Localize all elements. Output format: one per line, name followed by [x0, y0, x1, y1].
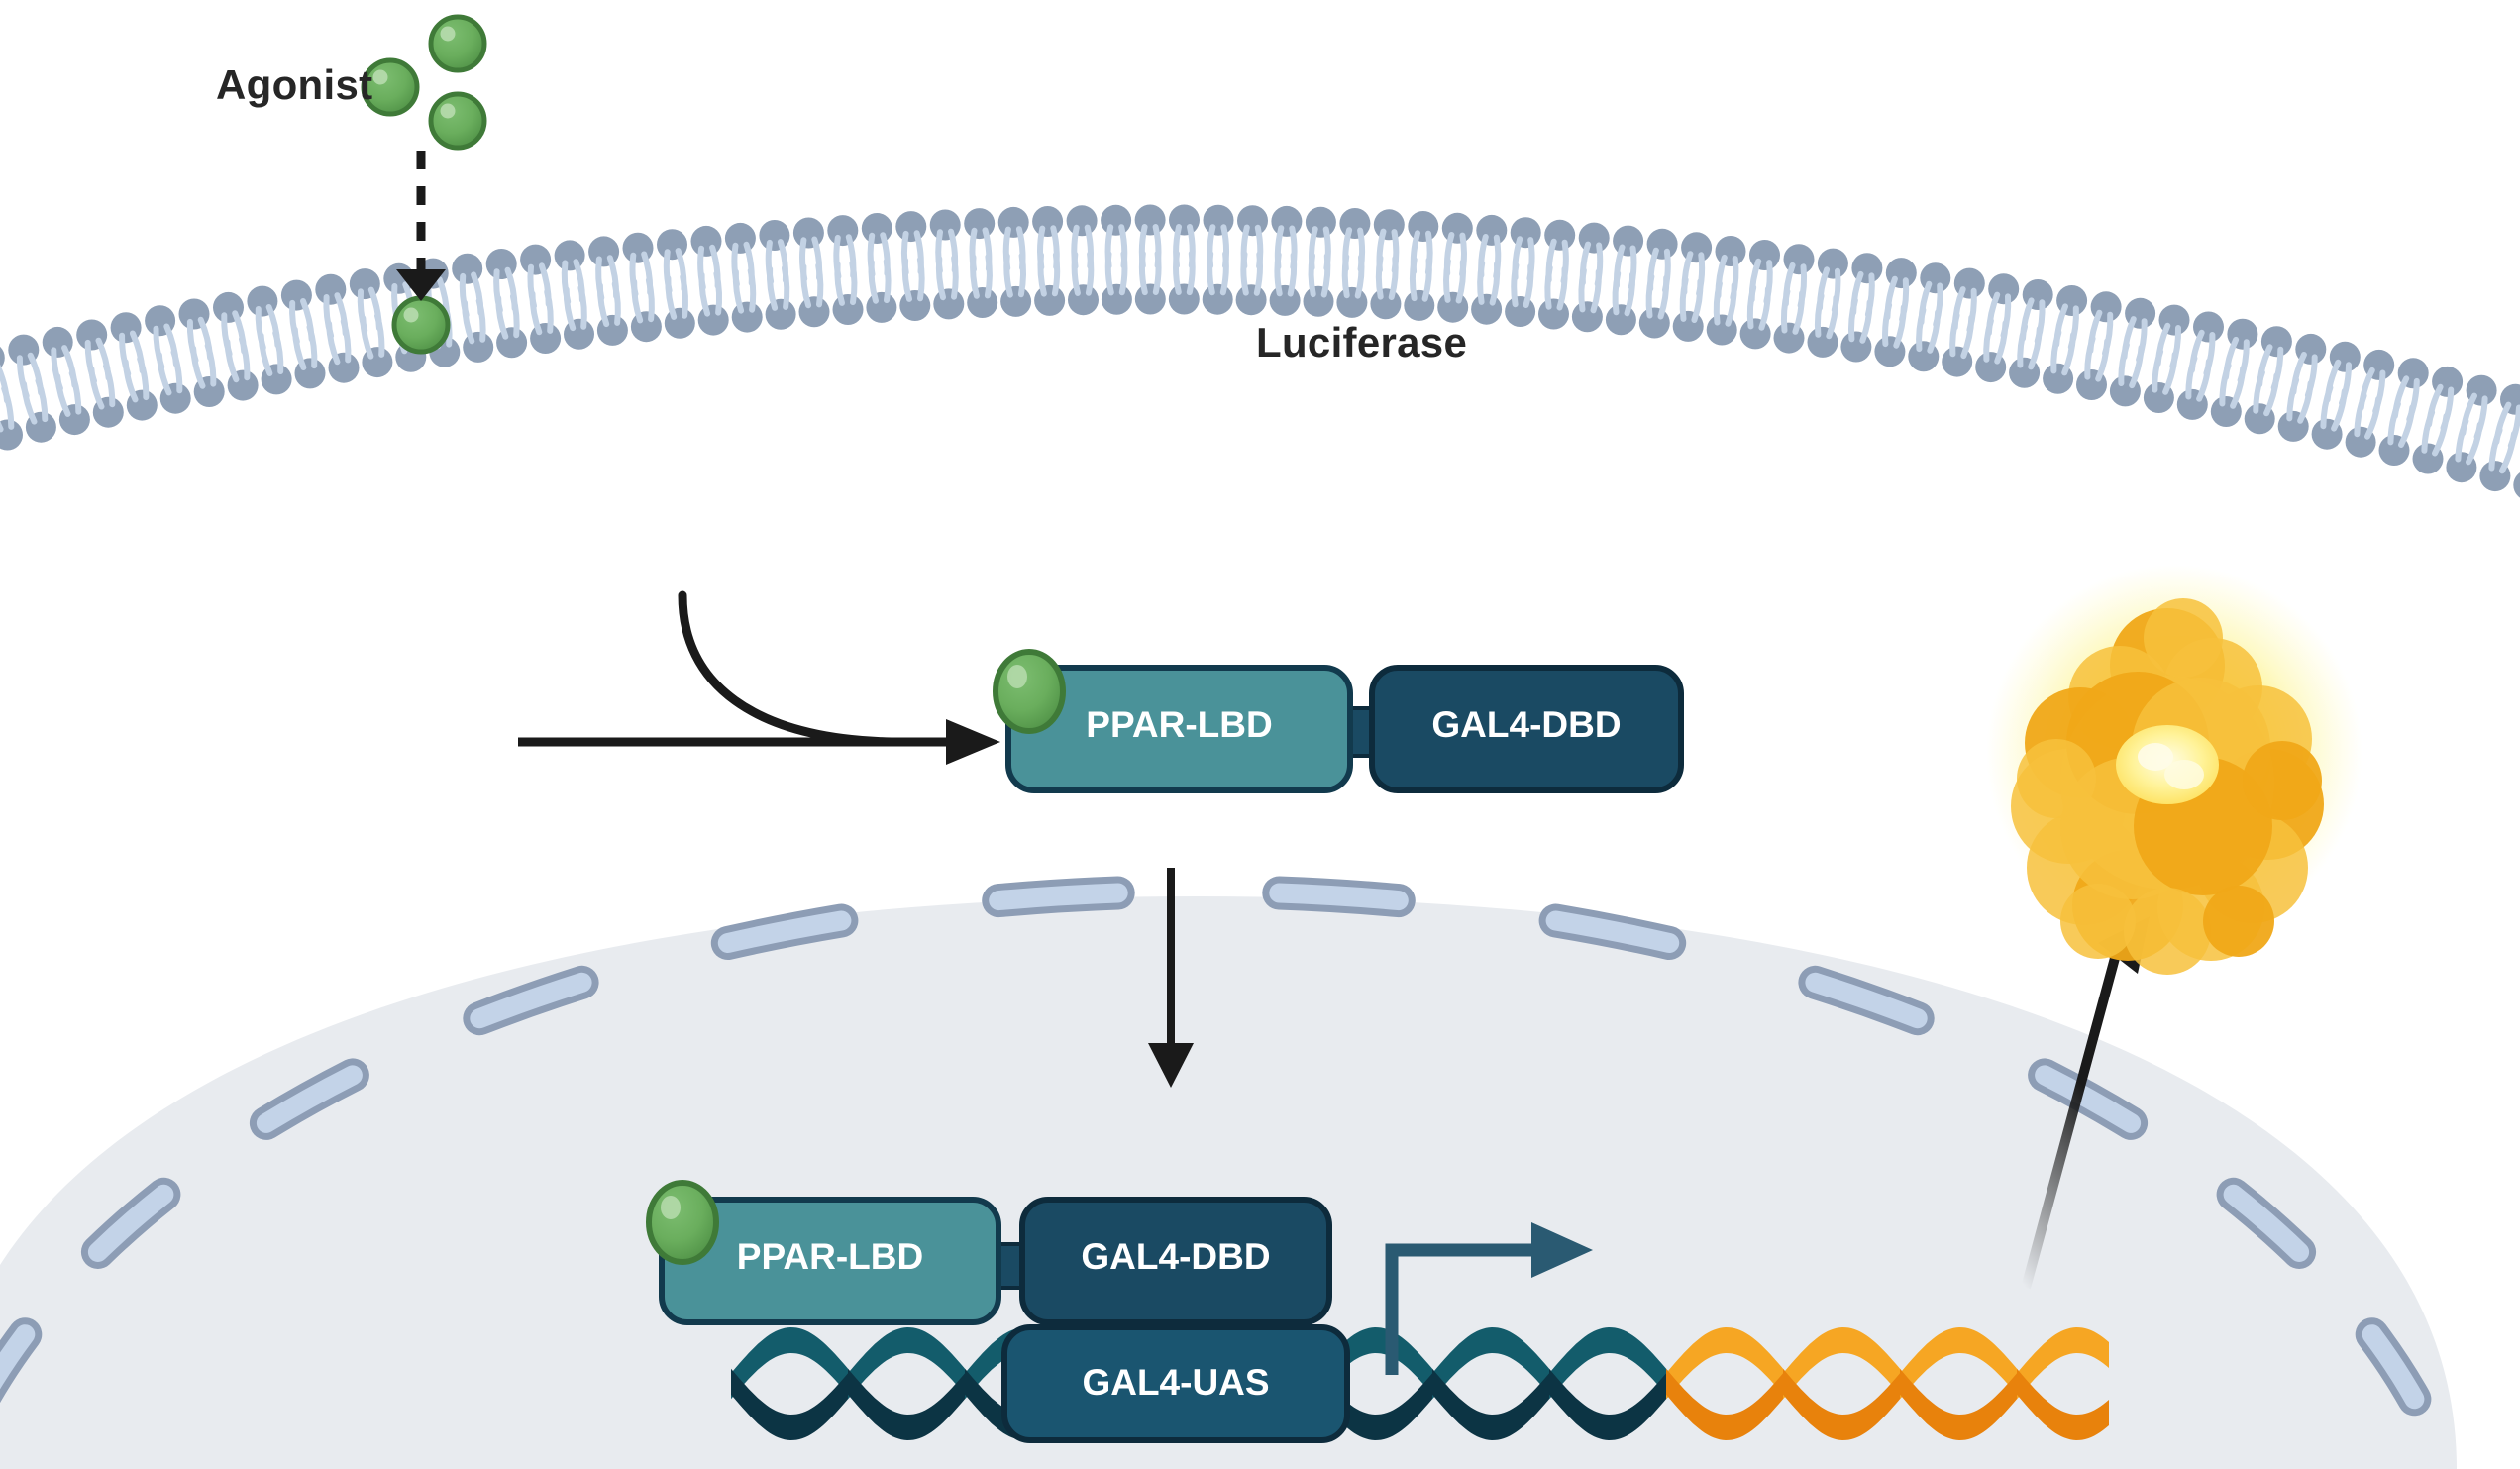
- luciferase-enzyme: [1986, 565, 2362, 975]
- diagram-canvas: Agonist Luciferase PPAR-LBD GAL4-DBD PPA…: [0, 0, 2520, 1469]
- luciferase-label: Luciferase: [1256, 319, 1467, 367]
- agonist-binding-curved-arrow: [682, 595, 892, 742]
- agonist-entry-dashed-arrow: [396, 151, 446, 301]
- gal4-dbd-label-nuc: GAL4-DBD: [1022, 1236, 1329, 1278]
- ppar-lbd-label-cyto: PPAR-LBD: [1008, 704, 1350, 746]
- gal4-dbd-label-cyto: GAL4-DBD: [1372, 704, 1681, 746]
- agonist-label: Agonist: [216, 61, 372, 109]
- agonist-sphere: [431, 94, 484, 148]
- agonist-sphere-intracellular: [394, 298, 448, 352]
- agonist-sphere: [431, 17, 484, 70]
- ligand-receptor-horizontal-arrow: [518, 719, 1000, 765]
- gal4-uas-label: GAL4-UAS: [1004, 1362, 1347, 1404]
- ppar-lbd-label-nuc: PPAR-LBD: [662, 1236, 998, 1278]
